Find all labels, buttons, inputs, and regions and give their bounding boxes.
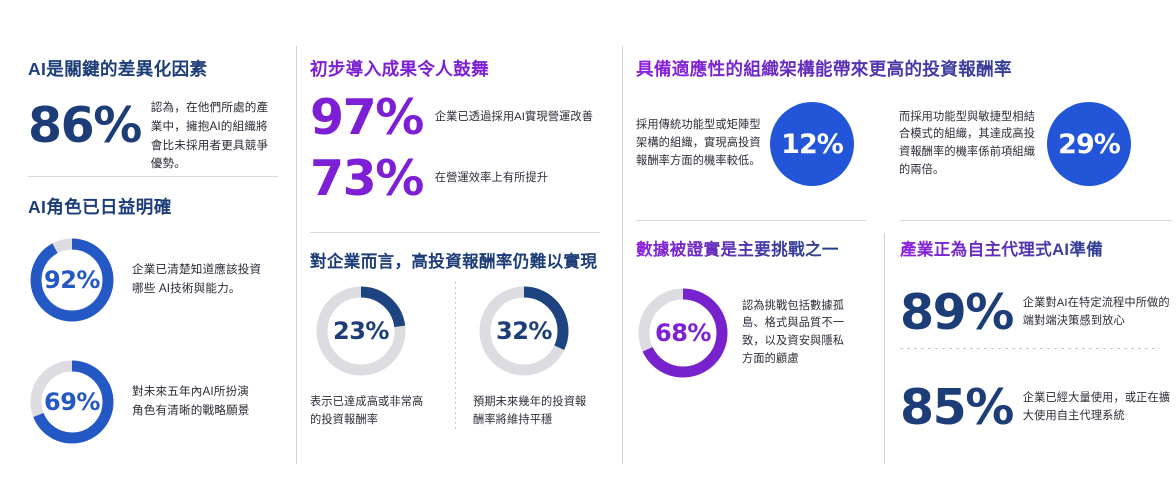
col1-section1: AI是關鍵的差異化因素 86% 認為，在他們所處的產業中，擁抱AI的組織將會比未… <box>28 56 278 174</box>
donut-chart-32: 32% <box>477 284 571 378</box>
stat-block-12: 採用傳統功能型或矩陣型架構的組織，實現高投資報酬率方面的機率較低。 12% <box>636 102 854 186</box>
stat-block-29: 而採用功能型與敏捷型相結合模式的組織，其達成高投資報酬率的機率係前項組織的兩倍。… <box>899 102 1131 186</box>
donut-23-caption: 表示已達成高或非常高的投資報酬率 <box>310 394 434 429</box>
donut-block-32: 32% 預期未來幾年的投資報酬率將維持平穩 <box>473 284 603 429</box>
stat-89-caption: 企業對AI在特定流程中所做的端對端決策感到放心 <box>1023 295 1175 330</box>
stat-86-value: 86% <box>28 101 141 150</box>
column-divider-1 <box>296 46 297 464</box>
donut-68-value: 68% <box>636 286 730 380</box>
stat-97-caption: 企業已透過採用AI實現營運改善 <box>435 109 610 127</box>
circle-29-value: 29% <box>1058 129 1120 160</box>
col1-section2: AI角色已日益明確 92% 企業已清楚知道應該投資哪些 AI技術與能力。 <box>28 194 278 219</box>
donut-68-caption: 認為挑戰包括數據孤島、格式與品質不一致，以及資安與隱私方面的顧慮 <box>742 298 854 369</box>
col3-horizontal-rule-left <box>636 220 866 221</box>
donut-chart-69: 69% <box>28 358 116 446</box>
donut-pair-divider <box>455 282 456 430</box>
donut-block-69: 69% 對未來五年內AI所扮演角色有清晰的戰略願景 <box>28 358 256 446</box>
stat-73-value: 73% <box>310 154 423 203</box>
donut-chart-23: 23% <box>314 284 408 378</box>
col3-section1: 具備適應性的組織架構能帶來更高的投資報酬率 <box>636 56 1176 81</box>
donut-92-value: 92% <box>28 236 116 324</box>
section-heading-roi-elusive: 對企業而言，高投資報酬率仍難以實現 <box>310 248 610 272</box>
donut-92-caption: 企業已清楚知道應該投資哪些 AI技術與能力。 <box>132 261 268 299</box>
stat-86-caption: 認為，在他們所處的產業中，擁抱AI的組織將會比未採用者更具競爭優勢。 <box>151 97 278 174</box>
donut-23-value: 23% <box>314 284 408 378</box>
col2-section2: 對企業而言，高投資報酬率仍難以實現 23% 表示已達成高或非常高的投資報酬率 <box>310 248 610 272</box>
stat-12-caption: 採用傳統功能型或矩陣型架構的組織，實現高投資報酬率方面的機率較低。 <box>636 117 762 170</box>
col3-section3: 產業正為自主代理式AI準備 89% 企業對AI在特定流程中所做的端對端決策感到放… <box>900 236 1176 432</box>
stat-89-value: 89% <box>900 288 1013 337</box>
column-divider-3 <box>884 233 885 464</box>
stat-85-caption: 企業已經大量使用，或正在擴大使用自主代理系統 <box>1023 390 1175 425</box>
column-3: 具備適應性的組織架構能帶來更高的投資報酬率 採用傳統功能型或矩陣型架構的組織，實… <box>636 56 1176 81</box>
section-heading-ai-differentiator: AI是關鍵的差異化因素 <box>28 56 278 81</box>
col2-section1: 初步導入成果令人鼓舞 97% 企業已透過採用AI實現營運改善 73% 在營運效率… <box>310 56 610 203</box>
donut-chart-68: 68% <box>636 286 730 380</box>
donut-chart-92: 92% <box>28 236 116 324</box>
section-heading-agentic-ai-ready: 產業正為自主代理式AI準備 <box>900 236 1176 260</box>
section-heading-adaptive-structure: 具備適應性的組織架構能帶來更高的投資報酬率 <box>636 56 1176 81</box>
stat-29-caption: 而採用功能型與敏捷型相結合模式的組織，其達成高投資報酬率的機率係前項組織的兩倍。 <box>899 109 1039 180</box>
donut-block-92: 92% 企業已清楚知道應該投資哪些 AI技術與能力。 <box>28 236 268 324</box>
section-heading-early-results: 初步導入成果令人鼓舞 <box>310 56 610 81</box>
section-heading-ai-role-clear: AI角色已日益明確 <box>28 194 278 219</box>
col2-horizontal-rule <box>310 232 600 233</box>
donut-69-caption: 對未來五年內AI所扮演角色有清晰的戰略願景 <box>132 383 256 421</box>
stat-97-value: 97% <box>310 93 423 142</box>
circle-12-value: 12% <box>781 129 843 160</box>
column-2: 初步導入成果令人鼓舞 97% 企業已透過採用AI實現營運改善 73% 在營運效率… <box>310 56 610 203</box>
col1-horizontal-rule <box>28 176 278 177</box>
stat-73-caption: 在營運效率上有所提升 <box>435 170 610 188</box>
column-divider-2 <box>622 46 623 464</box>
col3-horizontal-rule-right <box>900 220 1172 221</box>
infographic-canvas: AI是關鍵的差異化因素 86% 認為，在他們所處的產業中，擁抱AI的組織將會比未… <box>0 0 1176 498</box>
section-heading-data-challenge: 數據被證實是主要挑戰之一 <box>636 236 876 260</box>
col3-section3-dotted-rule <box>900 348 1160 349</box>
stat-85-value: 85% <box>900 383 1013 432</box>
col3-section2: 數據被證實是主要挑戰之一 68% 認為挑戰包括數據孤島、格式與品質不一致，以及資… <box>636 236 876 380</box>
circle-chart-12: 12% <box>770 102 854 186</box>
donut-69-value: 69% <box>28 358 116 446</box>
donut-32-caption: 預期未來幾年的投資報酬率將維持平穩 <box>473 394 597 429</box>
donut-block-23: 23% 表示已達成高或非常高的投資報酬率 <box>310 284 440 429</box>
column-1: AI是關鍵的差異化因素 86% 認為，在他們所處的產業中，擁抱AI的組織將會比未… <box>28 56 278 174</box>
donut-32-value: 32% <box>477 284 571 378</box>
circle-chart-29: 29% <box>1047 102 1131 186</box>
